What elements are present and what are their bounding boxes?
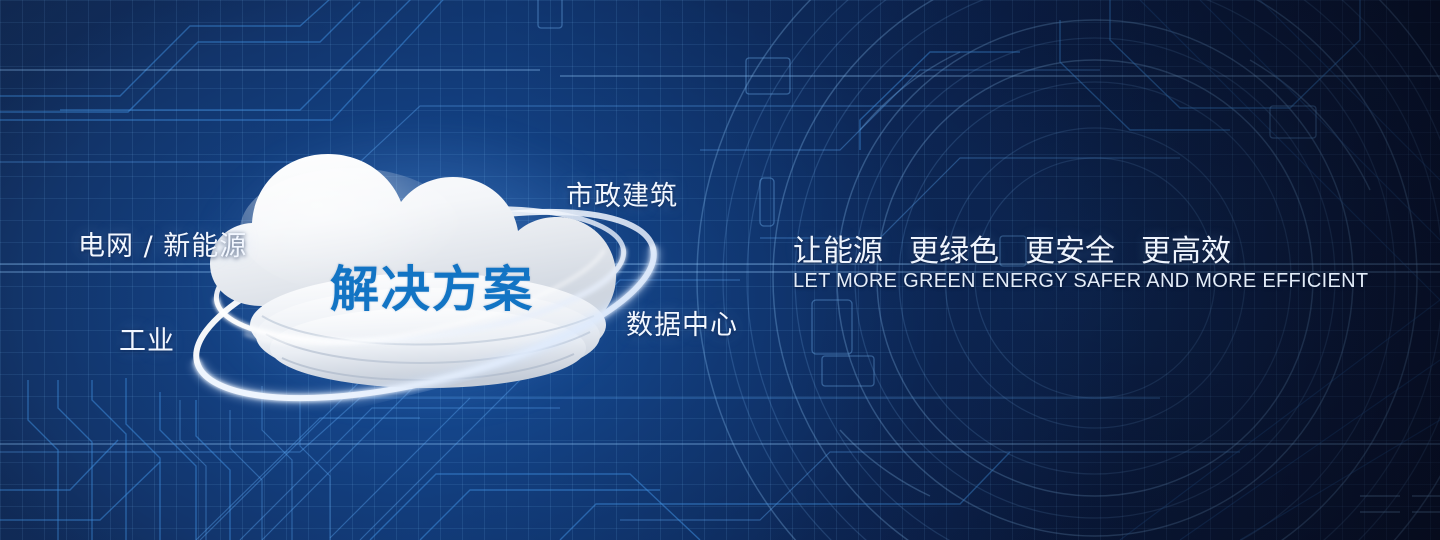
- label-grid-new-energy: 电网 / 新能源: [78, 224, 247, 263]
- label-municipal-building: 市政建筑: [566, 174, 678, 213]
- tagline-part-2: 更绿色: [909, 234, 999, 269]
- tagline: 让能源更绿色更安全更高效: [793, 226, 1231, 270]
- solution-banner: 电网 / 新能源 工业 市政建筑 数据中心 解决方案 让能源更绿色更安全更高效 …: [0, 0, 1440, 540]
- label-industry: 工业: [119, 319, 175, 358]
- tagline-part-3: 更安全: [1025, 234, 1115, 269]
- label-data-center: 数据中心: [626, 303, 738, 342]
- page-title: 解决方案: [330, 250, 534, 321]
- tagline-part-4: 更高效: [1141, 234, 1231, 269]
- subtagline: LET MORE GREEN ENERGY SAFER AND MORE EFF…: [793, 270, 1368, 293]
- tagline-part-1: 让能源: [793, 234, 883, 269]
